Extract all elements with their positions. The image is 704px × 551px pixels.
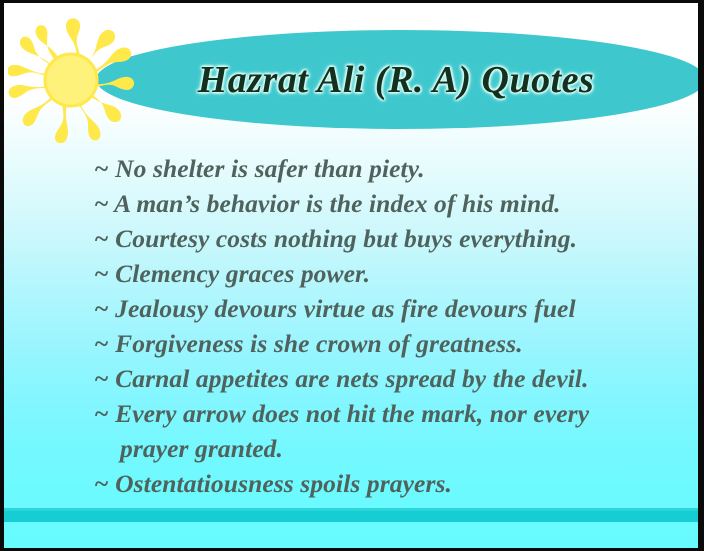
quote-line: ~ Forgiveness is she crown of greatness. [94,326,674,361]
quote-line: prayer granted. [94,431,674,466]
slide-title-text: Hazrat Ali (R. A) Quotes [198,58,595,102]
quote-line: ~ Every arrow does not hit the mark, nor… [94,396,674,431]
quote-line: ~ A man’s behavior is the index of his m… [94,186,674,221]
quotes-list: ~ No shelter is safer than piety.~ A man… [94,151,674,501]
slide-frame: Hazrat Ali (R. A) Quotes ~ No shelter is… [0,0,704,551]
quote-line: ~ Courtesy costs nothing but buys everyt… [94,221,674,256]
quote-line: ~ No shelter is safer than piety. [94,151,674,186]
quote-line: ~ Clemency graces power. [94,256,674,291]
quote-line: ~ Ostentatiousness spoils prayers. [94,466,674,501]
quote-line: ~ Jealousy devours virtue as fire devour… [94,291,674,326]
slide-title: Hazrat Ali (R. A) Quotes [96,44,696,116]
bottom-accent-bar [4,511,698,522]
quote-line: ~ Carnal appetites are nets spread by th… [94,361,674,396]
slide-canvas: Hazrat Ali (R. A) Quotes ~ No shelter is… [4,3,698,548]
